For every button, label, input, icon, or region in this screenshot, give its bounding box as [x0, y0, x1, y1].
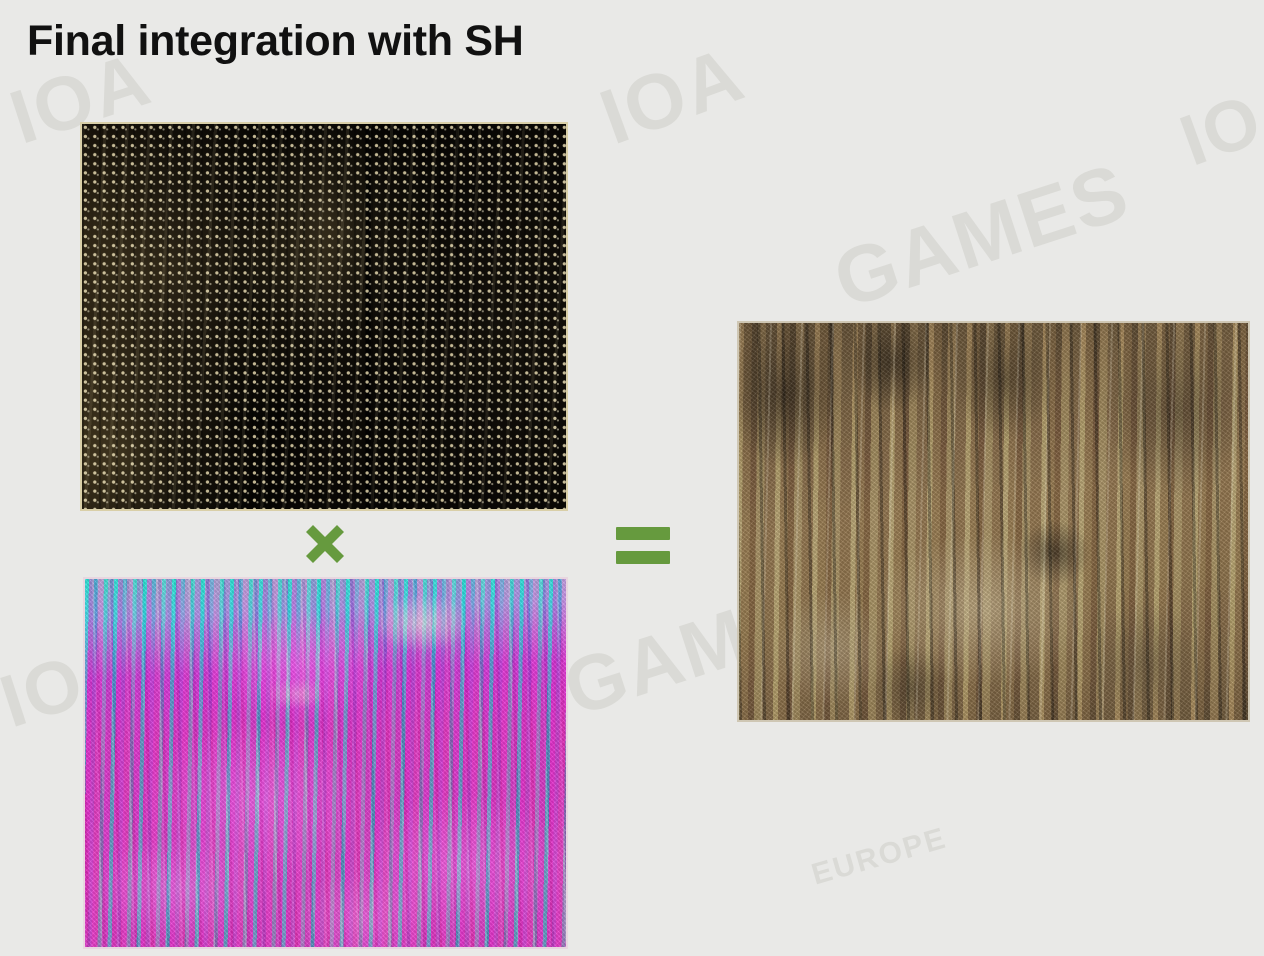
multiply-symbol: [302, 521, 348, 567]
normalmap-noise-layer: [85, 579, 566, 947]
equals-symbol: [616, 525, 670, 567]
page-title: Final integration with SH: [27, 18, 524, 65]
image-panel-irradiance-lightmap: [80, 122, 568, 511]
render-noise-layer: [739, 323, 1248, 720]
image-panel-final-render: [737, 321, 1250, 722]
slide-canvas: Final integration with SH: [0, 0, 1264, 956]
equals-bar-top: [616, 527, 670, 540]
equals-bar-bottom: [616, 551, 670, 564]
image-panel-normal-map: [83, 577, 568, 949]
irradiance-sample-dot-grid: [82, 124, 566, 509]
